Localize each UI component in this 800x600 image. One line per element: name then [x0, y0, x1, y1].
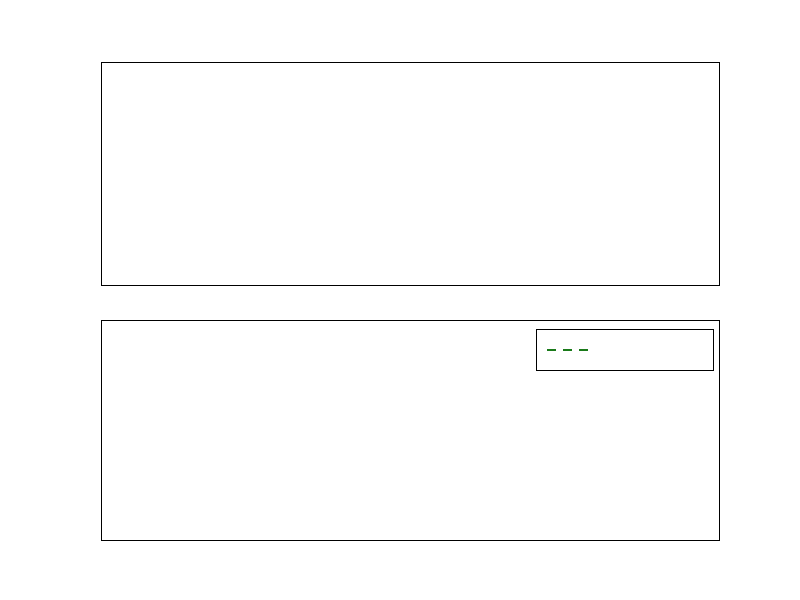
- legend[interactable]: [536, 329, 714, 371]
- top-histogram-axes[interactable]: [101, 62, 720, 286]
- figure-canvas: [0, 0, 800, 600]
- mag-limit-line-icon: [547, 349, 589, 351]
- top-histogram-plot: [102, 63, 719, 285]
